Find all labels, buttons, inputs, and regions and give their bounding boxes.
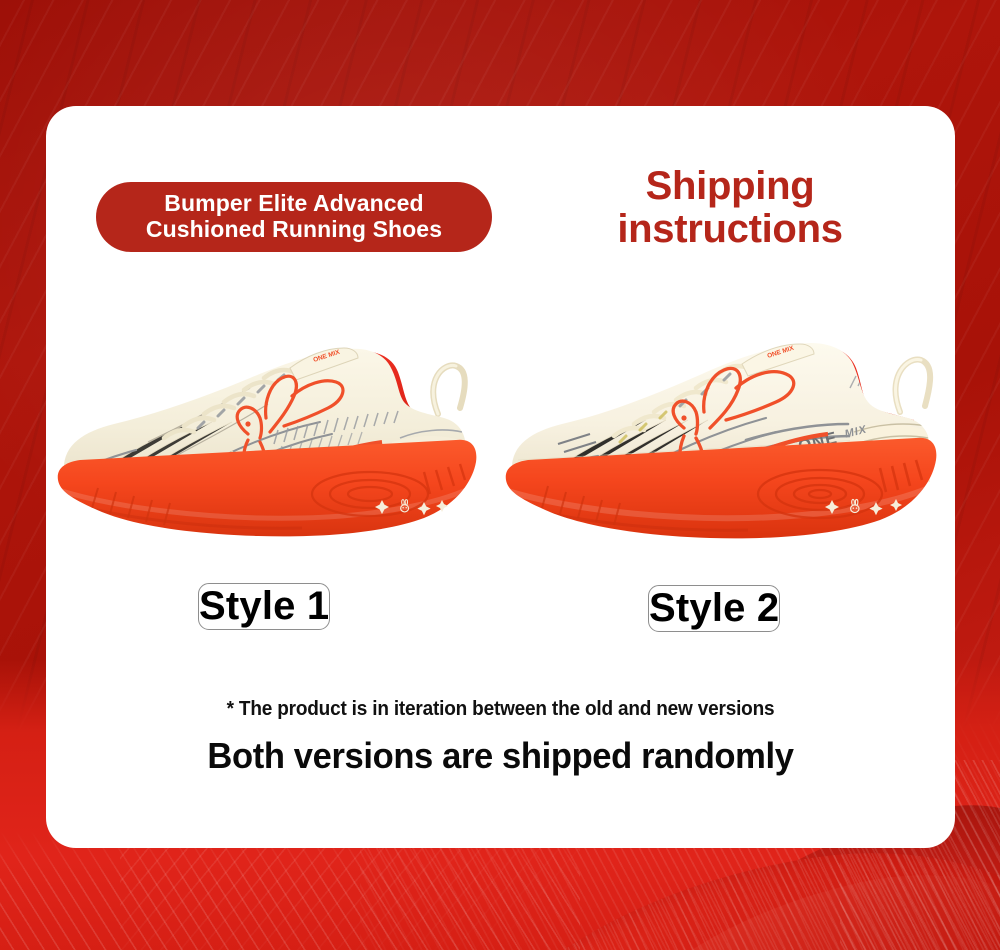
product-image-style-2: ONE MIX ONE MIX <box>498 320 942 570</box>
running-shoe-icon-style-1: ONE MIX <box>52 322 482 562</box>
style-2-label: Style 2 <box>649 586 779 631</box>
product-title-line2: Cushioned Running Shoes <box>146 217 442 243</box>
product-title-badge: Bumper Elite Advanced Cushioned Running … <box>96 182 492 252</box>
style-1-label-box: Style 1 <box>198 583 330 630</box>
product-title-line1: Bumper Elite Advanced <box>164 191 423 217</box>
random-shipping-headline: Both versions are shipped randomly <box>64 735 937 777</box>
product-image-style-1: ONE MIX <box>52 322 482 562</box>
product-info-card: Bumper Elite Advanced Cushioned Running … <box>46 106 955 848</box>
style-1-label: Style 1 <box>199 584 329 629</box>
iteration-disclaimer: * The product is in iteration between th… <box>69 698 933 721</box>
style-2-label-box: Style 2 <box>648 585 780 632</box>
heading-line2: instructions <box>555 208 905 251</box>
shipping-instructions-heading: Shipping instructions <box>555 165 905 251</box>
heading-line1: Shipping <box>555 165 905 208</box>
running-shoe-icon-style-2: ONE MIX ONE MIX <box>498 320 942 570</box>
